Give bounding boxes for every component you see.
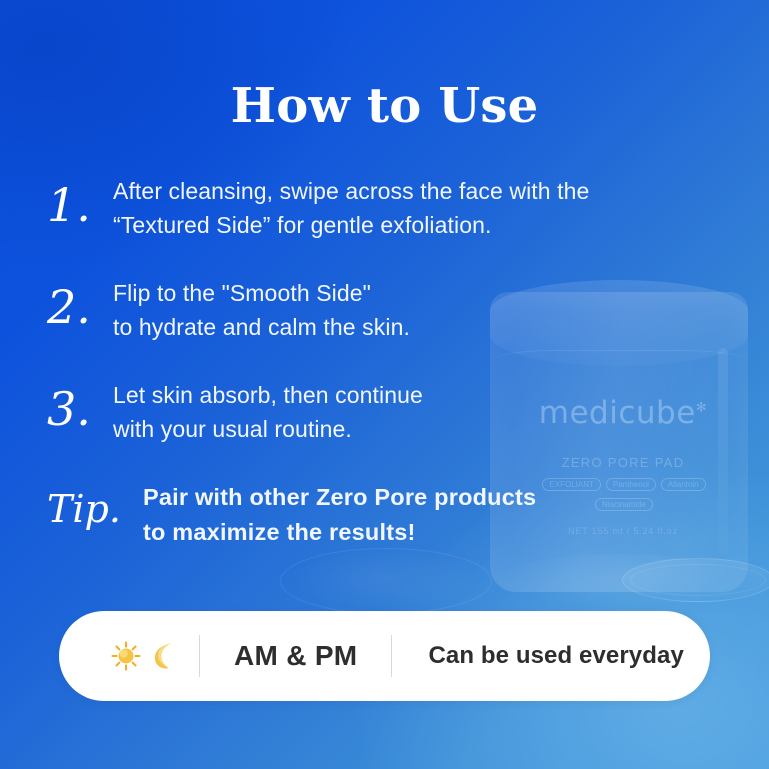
step-text: Flip to the "Smooth Side" to hydrate and… (113, 270, 410, 344)
step-line: “Textured Side” for gentle exfoliation. (113, 208, 589, 242)
usage-frequency-label: Can be used everyday (392, 642, 683, 670)
tip-line: to maximize the results! (143, 515, 536, 550)
step-item-1: 1. After cleansing, swipe across the fac… (47, 168, 707, 242)
crescent-moon-icon (151, 642, 177, 670)
usage-icons (59, 641, 199, 671)
step-line: with your usual routine. (113, 412, 423, 446)
step-item-2: 2. Flip to the "Smooth Side" to hydrate … (47, 270, 707, 344)
tip-line: Pair with other Zero Pore products (143, 480, 536, 515)
step-line: Flip to the "Smooth Side" (113, 276, 410, 310)
usage-info-bar: AM & PM Can be used everyday (59, 611, 710, 701)
step-line: Let skin absorb, then continue (113, 378, 423, 412)
how-to-use-infographic: medicube✻ ZERO PORE PAD EXFOLIANT Panthe… (0, 0, 769, 769)
step-line: to hydrate and calm the skin. (113, 310, 410, 344)
step-text: Let skin absorb, then continue with your… (113, 372, 423, 446)
step-number: 1. (47, 168, 113, 228)
tip-item: Tip. Pair with other Zero Pore products … (47, 474, 707, 550)
tip-text: Pair with other Zero Pore products to ma… (143, 474, 536, 550)
sun-icon (111, 641, 141, 671)
step-line: After cleansing, swipe across the face w… (113, 174, 589, 208)
step-number: 3. (47, 372, 113, 432)
step-number: 2. (47, 270, 113, 330)
tip-label: Tip. (47, 474, 143, 528)
step-text: After cleansing, swipe across the face w… (113, 168, 589, 242)
step-item-3: 3. Let skin absorb, then continue with y… (47, 372, 707, 446)
page-title: How to Use (0, 78, 769, 134)
usage-timing-label: AM & PM (200, 640, 391, 672)
steps-list: 1. After cleansing, swipe across the fac… (47, 168, 707, 578)
